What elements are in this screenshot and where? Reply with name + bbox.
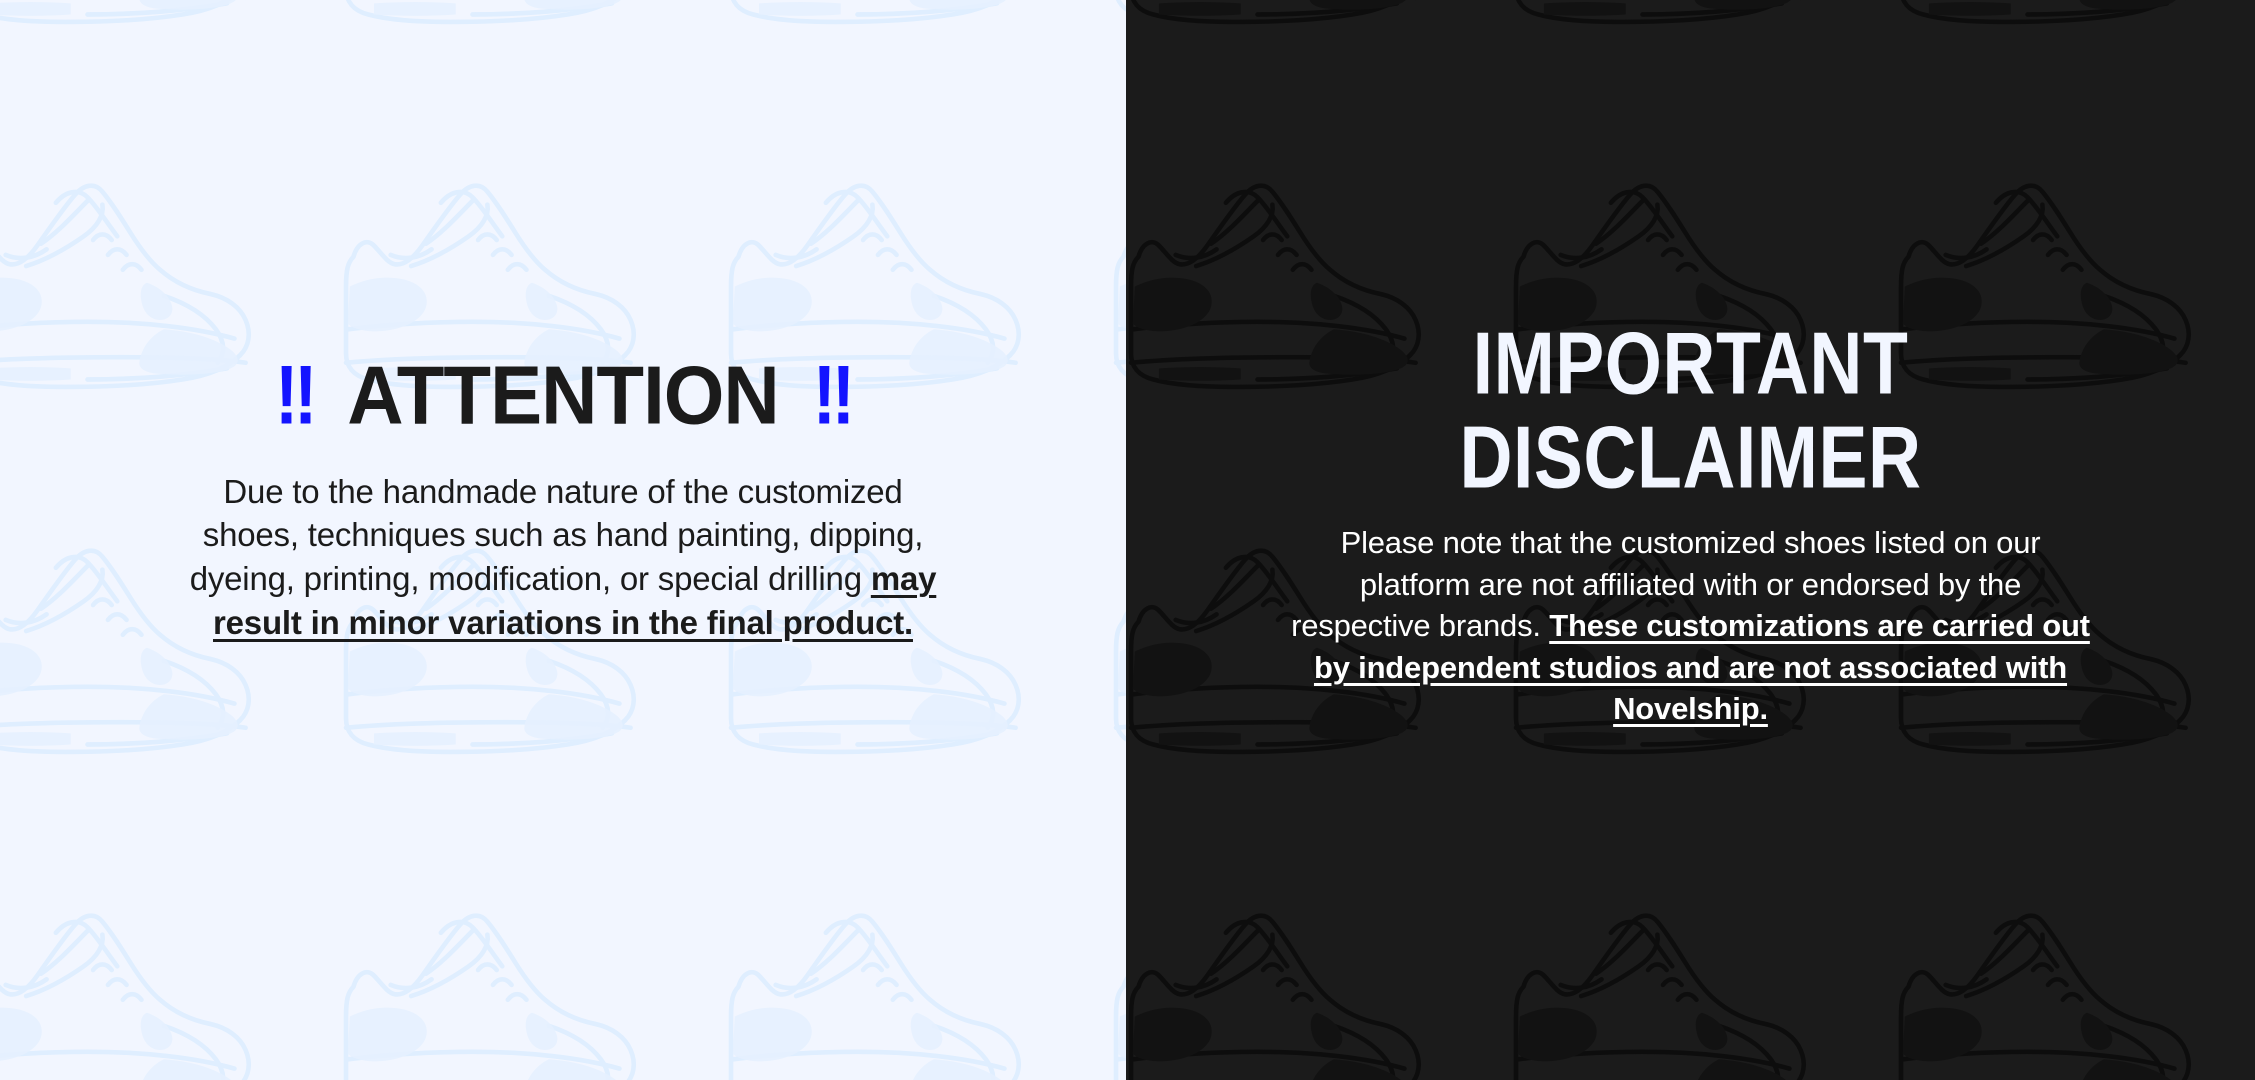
attention-content: ‼ ATTENTION ‼ Due to the handmade nature…	[0, 356, 1126, 645]
attention-body: Due to the handmade nature of the custom…	[183, 470, 943, 646]
disclaimer-panel: IMPORTANT DISCLAIMER Please note that th…	[1126, 0, 2255, 1080]
disclaimer-heading-line-2: DISCLAIMER	[1126, 412, 2255, 506]
attention-heading-word: ATTENTION	[347, 354, 779, 438]
disclaimer-heading-line-1: IMPORTANT	[1126, 318, 2255, 412]
disclaimer-content: IMPORTANT DISCLAIMER Please note that th…	[1126, 318, 2255, 730]
double-exclamation-icon-right: ‼	[813, 353, 851, 438]
attention-panel: ‼ ATTENTION ‼ Due to the handmade nature…	[0, 0, 1126, 1080]
attention-heading: ‼ ATTENTION ‼	[0, 354, 1126, 438]
double-exclamation-icon-left: ‼	[275, 353, 313, 438]
disclaimer-heading: IMPORTANT DISCLAIMER	[1126, 318, 2255, 506]
split-banner: ‼ ATTENTION ‼ Due to the handmade nature…	[0, 0, 2255, 1080]
attention-body-plain: Due to the handmade nature of the custom…	[190, 473, 923, 598]
disclaimer-body: Please note that the customized shoes li…	[1291, 522, 2091, 730]
